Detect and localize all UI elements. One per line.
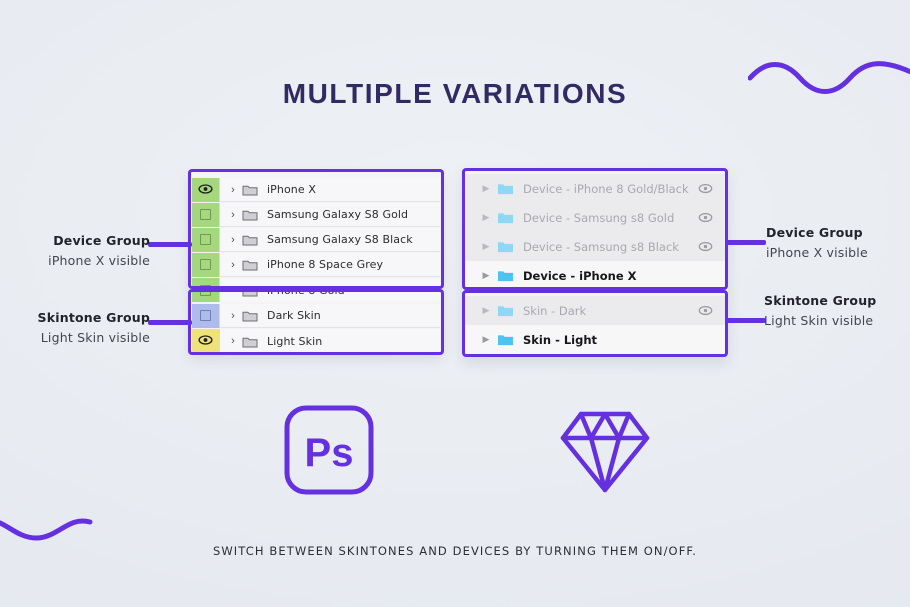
empty-box-icon [200, 285, 211, 296]
eye-icon[interactable] [698, 305, 713, 316]
list-item[interactable]: › Samsung Galaxy S8 Gold [192, 203, 440, 227]
callout-connector-right-device [726, 240, 766, 245]
layer-name: Samsung Galaxy S8 Black [267, 233, 413, 246]
callout-title: Device Group [0, 233, 150, 248]
chevron-right-icon[interactable]: › [226, 284, 240, 296]
triangle-right-icon[interactable]: ▶ [477, 212, 495, 223]
folder-icon [497, 240, 514, 254]
triangle-right-icon[interactable]: ▶ [477, 241, 495, 252]
empty-box-icon [200, 234, 211, 245]
layer-name: Device - iPhone 8 Gold/Black [523, 182, 689, 196]
layer-name: iPhone 8 Space Grey [267, 258, 383, 271]
callout-connector-left-skintone [148, 320, 192, 325]
callout-right-device-group: Device Group iPhone X visible [766, 225, 868, 260]
triangle-right-icon[interactable]: ▶ [477, 305, 495, 316]
list-item[interactable]: › iPhone X [192, 178, 440, 202]
empty-box-icon [200, 310, 211, 321]
visibility-toggle[interactable] [192, 278, 220, 302]
chevron-right-icon[interactable]: › [226, 259, 240, 271]
layer-name: iPhone X [267, 183, 316, 196]
triangle-right-icon[interactable]: ▶ [477, 334, 495, 345]
chevron-right-icon[interactable]: › [226, 335, 240, 347]
list-item[interactable]: ▶ Device - iPhone X [465, 261, 725, 290]
callout-title: Skintone Group [0, 310, 150, 325]
chevron-right-icon[interactable]: › [226, 184, 240, 196]
layer-name: Device - Samsung s8 Gold [523, 211, 674, 225]
eye-icon[interactable] [698, 241, 713, 252]
visibility-toggle[interactable] [192, 304, 220, 328]
sketch-diamond-logo [557, 402, 653, 503]
list-item[interactable]: › Samsung Galaxy S8 Black [192, 228, 440, 252]
empty-box-icon [200, 259, 211, 270]
callout-right-skintone-group: Skintone Group Light Skin visible [764, 293, 876, 328]
eye-icon[interactable] [698, 212, 713, 223]
folder-icon [242, 183, 258, 196]
list-item[interactable]: ▶ Skin - Dark [465, 296, 725, 325]
folder-icon [497, 269, 514, 283]
folder-icon [242, 284, 258, 297]
list-item[interactable]: ▶ Device - Samsung s8 Gold [465, 203, 725, 232]
chevron-right-icon[interactable]: › [226, 209, 240, 221]
folder-icon [242, 233, 258, 246]
callout-title: Skintone Group [764, 293, 876, 308]
callout-connector-left-device [148, 242, 192, 247]
visibility-toggle[interactable] [192, 178, 220, 202]
chevron-right-icon[interactable]: › [226, 234, 240, 246]
callout-detail: iPhone X visible [0, 253, 150, 268]
layer-name: Samsung Galaxy S8 Gold [267, 208, 408, 221]
folder-icon [497, 182, 514, 196]
eye-icon [198, 332, 213, 350]
folder-icon [242, 335, 258, 348]
folder-icon [242, 309, 258, 322]
list-item[interactable]: › Dark Skin [192, 304, 440, 328]
wave-decoration-top-right [748, 58, 910, 105]
layer-name: Skin - Dark [523, 304, 586, 318]
layer-name: Dark Skin [267, 309, 321, 322]
footer-caption: SWITCH BETWEEN SKINTONES AND DEVICES BY … [0, 544, 910, 558]
list-item[interactable]: › Light Skin [192, 329, 440, 353]
folder-icon [497, 304, 514, 318]
visibility-toggle[interactable] [192, 253, 220, 277]
callout-left-skintone-group: Skintone Group Light Skin visible [0, 310, 150, 345]
folder-icon [497, 211, 514, 225]
list-item[interactable]: › iPhone 8 Space Grey [192, 253, 440, 277]
poster-canvas: MULTIPLE VARIATIONS › iPhone X › [0, 0, 910, 607]
callout-title: Device Group [766, 225, 868, 240]
visibility-toggle[interactable] [192, 203, 220, 227]
layer-name: Skin - Light [523, 333, 597, 347]
eye-icon [198, 181, 213, 199]
eye-icon[interactable] [698, 183, 713, 194]
folder-icon [242, 208, 258, 221]
folder-icon [497, 333, 514, 347]
callout-left-device-group: Device Group iPhone X visible [0, 233, 150, 268]
list-item[interactable]: ▶ Device - iPhone 8 Gold/Black [465, 174, 725, 203]
empty-box-icon [200, 209, 211, 220]
callout-detail: iPhone X visible [766, 245, 868, 260]
layer-name: Light Skin [267, 335, 322, 348]
visibility-toggle[interactable] [192, 329, 220, 353]
chevron-right-icon[interactable]: › [226, 310, 240, 322]
triangle-right-icon[interactable]: ▶ [477, 270, 495, 281]
callout-detail: Light Skin visible [764, 313, 876, 328]
photoshop-logo: Ps [283, 404, 375, 501]
triangle-right-icon[interactable]: ▶ [477, 183, 495, 194]
layer-name: Device - Samsung s8 Black [523, 240, 679, 254]
callout-detail: Light Skin visible [0, 330, 150, 345]
callout-connector-right-skintone [726, 318, 766, 323]
list-item[interactable]: ▶ Skin - Light [465, 325, 725, 354]
layer-name: iPhone 8 Gold [267, 284, 345, 297]
folder-icon [242, 258, 258, 271]
layer-name: Device - iPhone X [523, 269, 637, 283]
svg-text:Ps: Ps [305, 431, 354, 475]
list-item[interactable]: › iPhone 8 Gold [192, 278, 440, 302]
list-item[interactable]: ▶ Device - Samsung s8 Black [465, 232, 725, 261]
visibility-toggle[interactable] [192, 228, 220, 252]
